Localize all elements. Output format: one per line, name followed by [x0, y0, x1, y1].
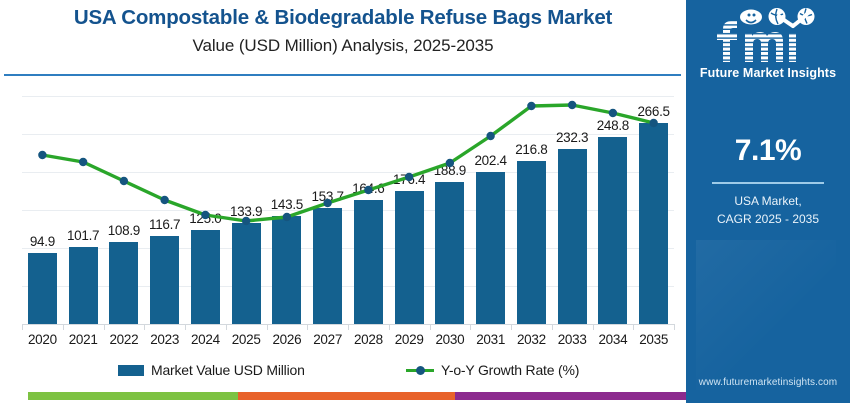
chart-legend: Market Value USD Million Y-o-Y Growth Ra…	[0, 360, 686, 384]
color-bar-segment-green	[28, 392, 238, 400]
growth-marker-2030[interactable]	[446, 159, 454, 167]
growth-marker-2022[interactable]	[120, 177, 128, 185]
fmi-logo-icon: Future Market Insights	[686, 8, 850, 80]
website-url: www.futuremarketinsights.com	[686, 377, 850, 388]
x-axis-labels: 2020202120222023202420252026202720282029…	[0, 330, 686, 356]
growth-rate-line	[42, 105, 653, 221]
growth-marker-2033[interactable]	[568, 101, 576, 109]
legend-label-growth-rate: Y-o-Y Growth Rate (%)	[441, 362, 579, 378]
cagr-note: USA Market, CAGR 2025 - 2035	[686, 192, 850, 228]
growth-marker-2028[interactable]	[364, 186, 372, 194]
color-bar-segment-orange	[238, 392, 455, 400]
legend-bar-swatch-icon	[118, 365, 144, 376]
panel-sheen	[696, 240, 836, 390]
chart-subtitle: Value (USD Million) Analysis, 2025-2035	[0, 36, 686, 56]
legend-item-market-value[interactable]: Market Value USD Million	[118, 362, 305, 378]
x-axis-label-2035: 2035	[630, 332, 678, 347]
chart-header: USA Compostable & Biodegradable Refuse B…	[0, 0, 686, 76]
growth-marker-2035[interactable]	[649, 119, 657, 127]
growth-marker-2023[interactable]	[160, 196, 168, 204]
growth-marker-2029[interactable]	[405, 173, 413, 181]
legend-line-swatch-icon	[406, 365, 434, 376]
growth-marker-2027[interactable]	[323, 199, 331, 207]
growth-line-series	[0, 80, 686, 330]
growth-marker-2031[interactable]	[486, 132, 494, 140]
growth-marker-2034[interactable]	[609, 109, 617, 117]
legend-label-market-value: Market Value USD Million	[151, 362, 305, 378]
growth-marker-2021[interactable]	[79, 158, 87, 166]
chart-title: USA Compostable & Biodegradable Refuse B…	[0, 6, 686, 30]
growth-marker-2025[interactable]	[242, 217, 250, 225]
chart-pane: USA Compostable & Biodegradable Refuse B…	[0, 0, 686, 403]
cagr-divider	[712, 182, 824, 184]
growth-marker-2024[interactable]	[201, 211, 209, 219]
logo-tagline: Future Market Insights	[686, 66, 850, 80]
header-divider	[4, 74, 681, 76]
growth-marker-2020[interactable]	[38, 151, 46, 159]
legend-item-growth-rate[interactable]: Y-o-Y Growth Rate (%)	[406, 362, 579, 378]
growth-marker-2026[interactable]	[283, 213, 291, 221]
cagr-note-line1: USA Market,	[686, 192, 850, 210]
growth-marker-2032[interactable]	[527, 102, 535, 110]
infographic-root: USA Compostable & Biodegradable Refuse B…	[0, 0, 850, 403]
plot-area: 94.9101.7108.9116.7125.0133.9143.5153.71…	[0, 80, 686, 330]
cagr-value: 7.1%	[686, 134, 850, 168]
brand-panel: Future Market Insights 7.1% USA Market, …	[686, 0, 850, 403]
cagr-note-line2: CAGR 2025 - 2035	[686, 210, 850, 228]
color-bar-segment-purple	[455, 392, 686, 400]
